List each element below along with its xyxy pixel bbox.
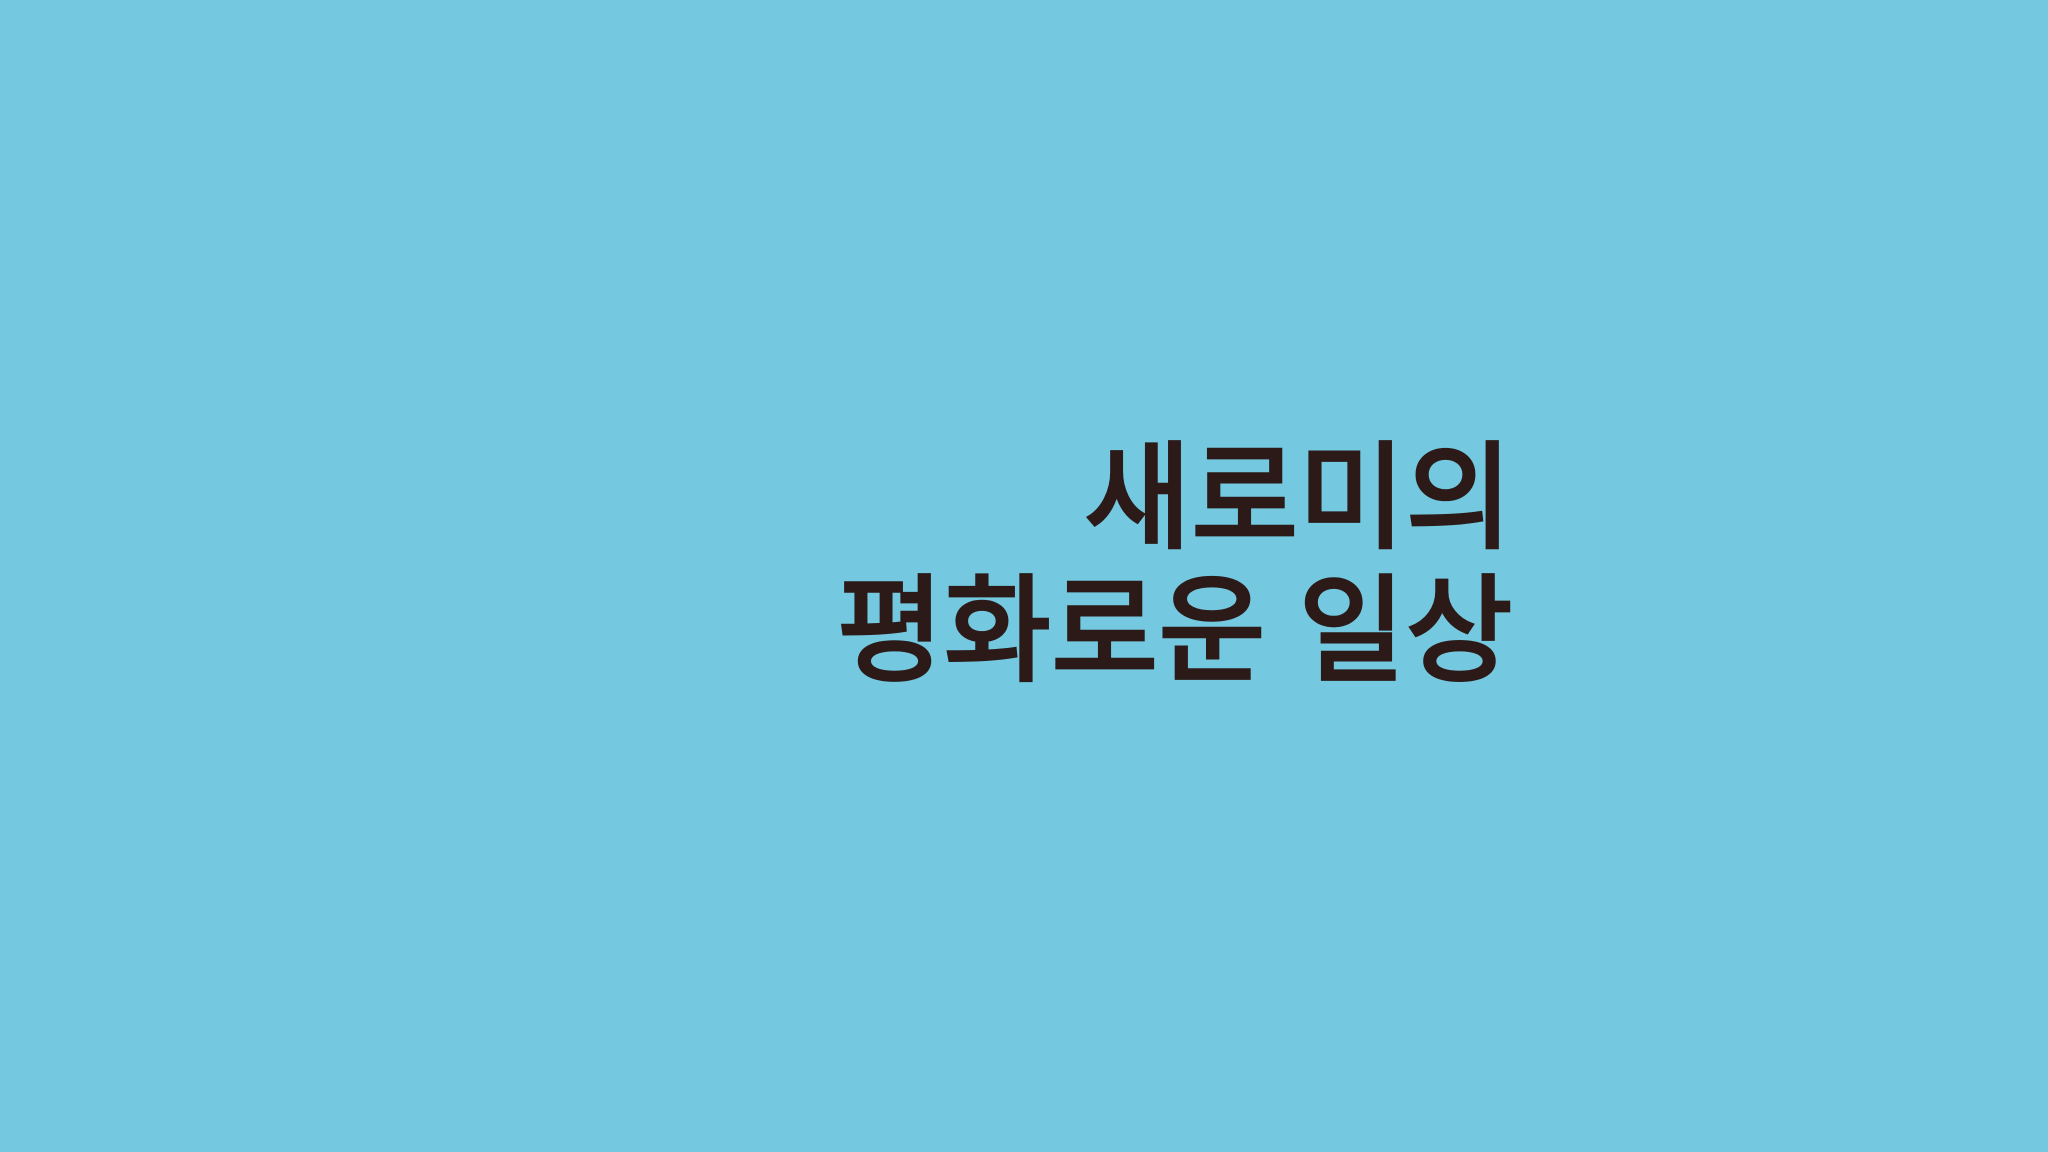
title-line-2: 평화로운 일상	[0, 565, 1513, 698]
title-line-1: 새로미의	[0, 432, 1513, 565]
slide-canvas: 새로미의 평화로운 일상	[0, 0, 2048, 1152]
title-block: 새로미의 평화로운 일상	[0, 432, 1513, 698]
